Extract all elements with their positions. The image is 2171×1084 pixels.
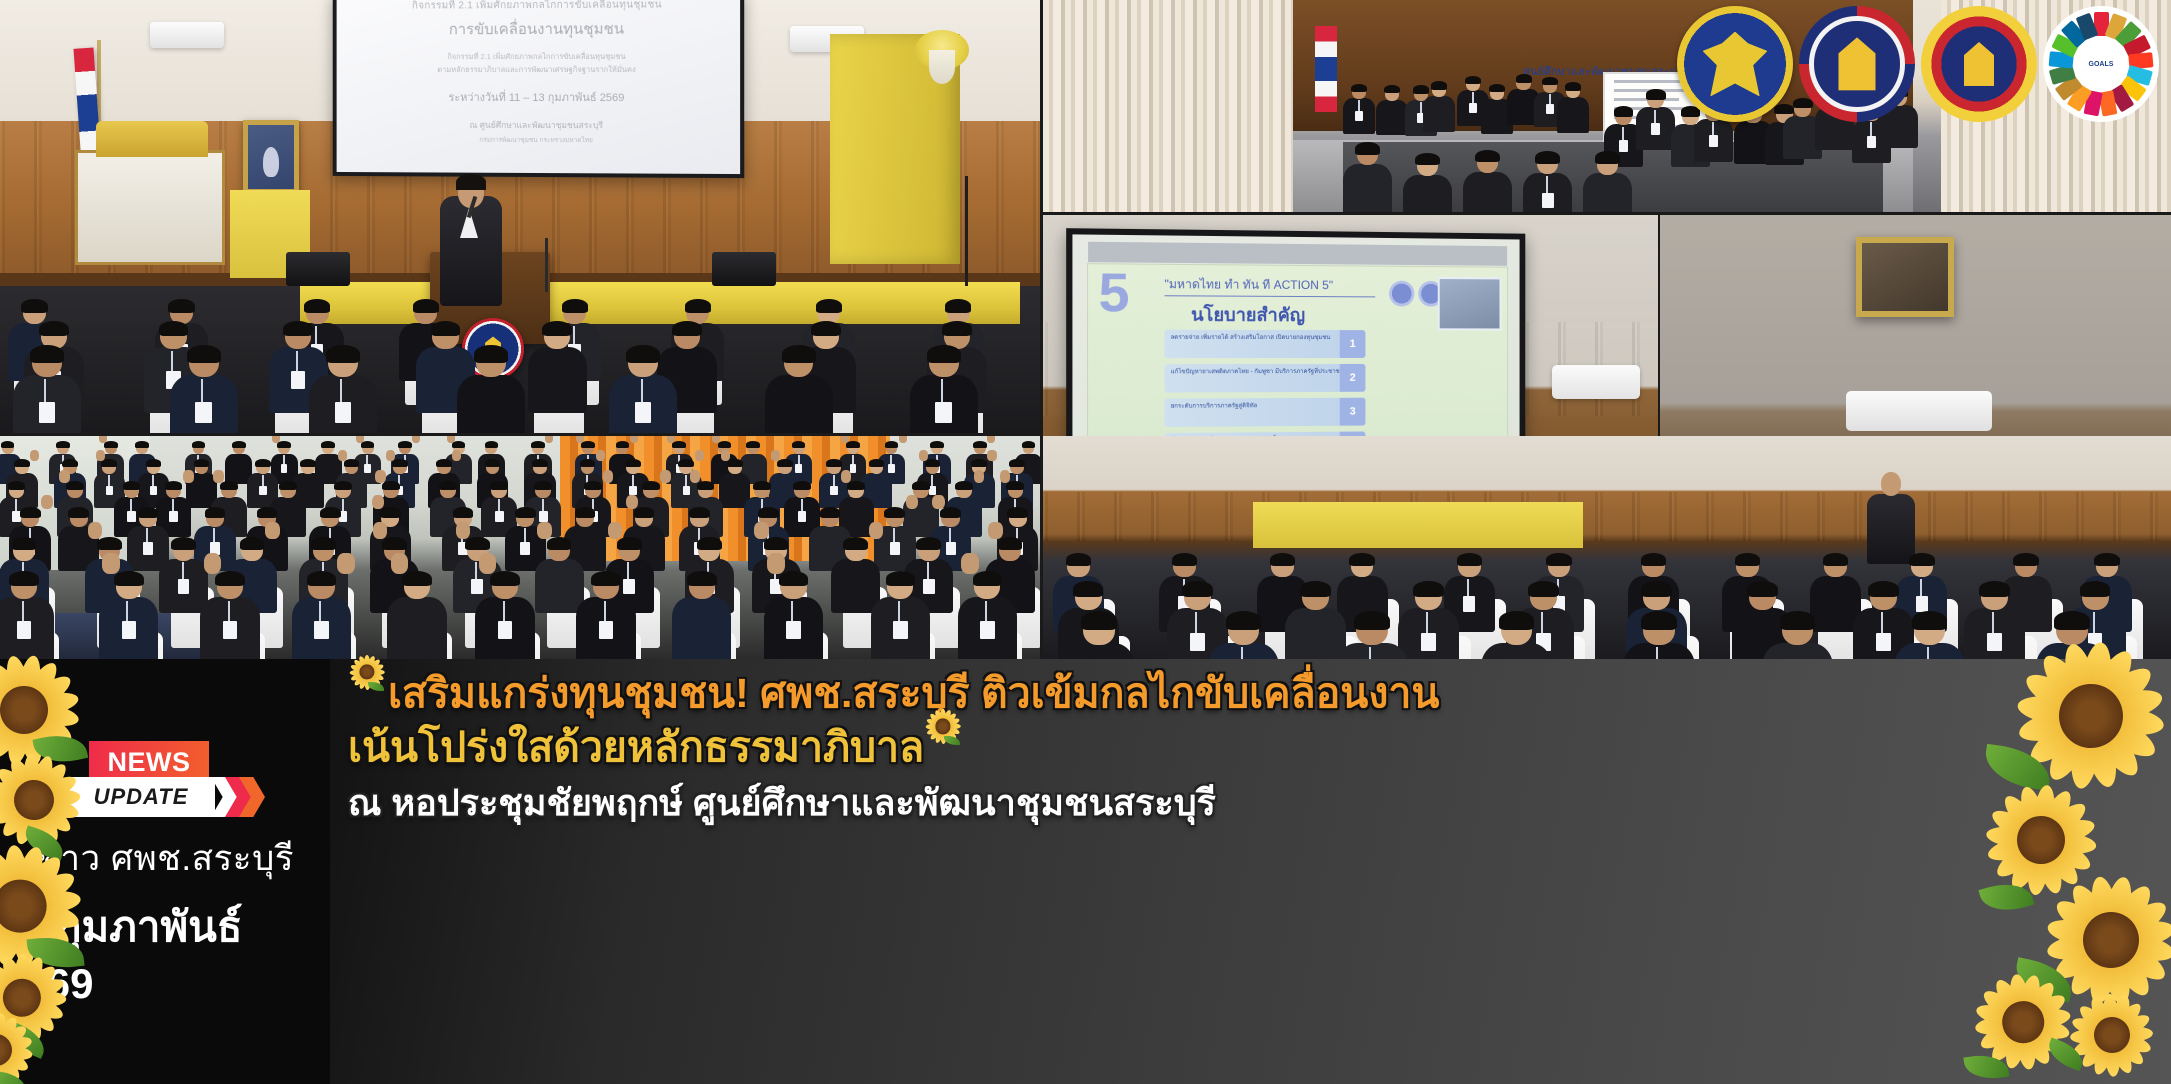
lanyard	[1420, 102, 1422, 113]
person-hair	[672, 441, 686, 448]
person-torso	[1343, 164, 1392, 212]
person-silhouette	[309, 346, 377, 433]
lanyard	[641, 379, 643, 402]
raised-fist	[375, 470, 386, 483]
person-hair	[955, 481, 973, 490]
person-hair	[135, 441, 149, 448]
name-badge	[635, 402, 651, 423]
lanyard	[1472, 92, 1474, 103]
person-hair	[321, 441, 335, 448]
raised-fist	[373, 522, 388, 539]
person-silhouette	[170, 346, 238, 433]
lanyard	[1358, 100, 1360, 111]
slide-seal-1	[1389, 281, 1414, 307]
person-hair	[1499, 611, 1535, 630]
lanyard	[182, 562, 184, 579]
person-hair	[534, 481, 552, 490]
person-torso	[1623, 643, 1694, 659]
person-silhouette	[576, 572, 636, 659]
person-hair	[1007, 507, 1028, 518]
raised-fist	[667, 436, 675, 443]
name-badge	[1651, 123, 1660, 135]
raised-fist	[386, 450, 395, 461]
person-hair	[792, 441, 806, 448]
person-hair	[9, 571, 39, 586]
person-hair	[436, 459, 452, 467]
person-silhouette	[292, 572, 352, 659]
person-hair	[490, 481, 508, 490]
person-hair	[616, 441, 630, 448]
person-hair	[581, 441, 595, 448]
raised-fist	[771, 450, 780, 461]
raised-fist	[919, 450, 928, 461]
raised-fist	[1000, 470, 1011, 483]
person-hair	[626, 345, 660, 363]
person-silhouette	[13, 346, 81, 433]
lanyard	[1992, 612, 1994, 633]
person-hair	[1415, 153, 1440, 166]
raised-fist	[988, 522, 1003, 539]
person-hair	[171, 537, 196, 550]
stage-monitor-right	[712, 252, 776, 286]
raised-fist	[337, 553, 355, 574]
person-hair	[1528, 581, 1559, 597]
lanyard	[152, 475, 154, 486]
lanyard	[108, 475, 110, 486]
person-hair	[826, 459, 842, 467]
person-hair	[1489, 84, 1505, 92]
person-hair	[764, 537, 789, 550]
person-hair	[382, 481, 400, 490]
main-hall-photo: กิจกรรมที่ 2.1 เพิ่มศักยภาพกลไกการขับเคล…	[0, 0, 1040, 433]
person-hair	[1073, 581, 1104, 597]
name-badge	[599, 621, 613, 639]
person-hair	[194, 459, 210, 467]
raised-fist	[265, 522, 280, 539]
person-hair	[532, 459, 548, 467]
person-hair	[811, 321, 841, 336]
person-hair	[779, 571, 809, 586]
lanyard	[1927, 647, 1929, 659]
slide-organization: กรมการพัฒนาชุมชน กระทรวงมหาดไทย	[479, 134, 593, 144]
person-hair	[1868, 581, 1899, 597]
name-badge	[1355, 111, 1363, 121]
headline-line-2: เน้นโปร่งใสด้วยหลักธรรมาภิบาล	[348, 723, 1991, 771]
person-hair	[1909, 553, 1935, 566]
raised-fist	[906, 495, 918, 510]
person-hair	[1542, 77, 1558, 85]
person-hair	[1912, 611, 1948, 630]
royal-portrait	[243, 120, 299, 194]
name-badge	[281, 464, 288, 472]
garuda-emblem-logo	[1677, 6, 1793, 122]
person-hair	[1226, 611, 1262, 630]
slide-quote: "มหาดไทย ทำ ทัน ที ACTION 5"	[1164, 275, 1333, 295]
meeting-room-photo: ศูนย์ศึกษาและพัฒนาชุมชนสระบุรี GOALS	[1043, 0, 2171, 212]
person-hair	[940, 507, 961, 518]
sunflower-decoration-left	[0, 640, 149, 1060]
raised-fist	[537, 522, 552, 539]
speaker-hair	[456, 174, 486, 190]
caption-right-block: เสริมแกร่งทุนชุมชน! ศพช.สระบุรี ติวเข้มก…	[348, 669, 1991, 824]
person-hair	[104, 441, 118, 448]
person-hair	[727, 459, 743, 467]
person-hair	[205, 507, 226, 518]
person-hair	[215, 571, 245, 586]
person-silhouette	[764, 572, 824, 659]
mic-stand	[545, 238, 548, 292]
person-hair	[816, 299, 842, 313]
person-hair	[97, 537, 122, 550]
thai-flag-meeting	[1315, 26, 1337, 112]
person-hair	[793, 481, 811, 490]
person-hair	[1006, 481, 1024, 490]
name-badge	[495, 511, 504, 522]
person-torso	[672, 597, 732, 659]
name-badge	[178, 579, 190, 594]
person-silhouette	[1636, 90, 1675, 150]
person-hair	[62, 459, 78, 467]
raised-fist	[626, 495, 638, 510]
lanyard	[791, 601, 793, 621]
person-hair	[232, 441, 246, 448]
person-hair	[1431, 81, 1447, 89]
person-hair	[1747, 581, 1778, 597]
person-hair	[847, 481, 865, 490]
person-hair	[531, 441, 545, 448]
person-torso	[1894, 643, 1965, 659]
person-hair	[1516, 74, 1532, 82]
person-hair	[1979, 581, 2010, 597]
raised-fist	[841, 470, 852, 483]
person-torso	[1762, 643, 1833, 659]
organization-logo-row: GOALS	[1677, 6, 2159, 122]
person-hair	[1300, 581, 1331, 597]
person-silhouette	[475, 572, 535, 659]
sunflower-icon	[348, 681, 388, 715]
name-badge	[786, 621, 800, 639]
person-hair	[515, 507, 536, 518]
lanyard	[852, 455, 854, 464]
name-badge	[1546, 104, 1554, 114]
lanyard	[893, 528, 895, 542]
name-badge	[1190, 633, 1205, 652]
person-hair	[820, 507, 841, 518]
raised-fist	[272, 436, 280, 443]
person-hair	[402, 571, 432, 586]
headline-line-2-text: เน้นโปร่งใสด้วยหลักธรรมาภิบาล	[348, 724, 924, 770]
lanyard	[1241, 647, 1243, 659]
name-badge	[893, 621, 907, 639]
lanyard	[1622, 127, 1624, 140]
lanyard	[340, 379, 342, 402]
person-hair	[240, 537, 265, 550]
person-hair	[925, 459, 941, 467]
raised-fist	[99, 436, 107, 443]
person-hair	[912, 481, 930, 490]
person-hair	[439, 481, 457, 490]
raised-fist	[695, 450, 704, 461]
lanyard	[1656, 647, 1658, 659]
person-hair	[886, 571, 916, 586]
slide-venue: ณ ศูนย์ศึกษาและพัฒนาชุมชนสระบุรี	[469, 117, 603, 131]
raised-fist	[213, 470, 224, 483]
lanyard	[44, 379, 46, 402]
person-silhouette	[1403, 154, 1452, 212]
person-hair	[884, 507, 905, 518]
lanyard	[1920, 579, 1922, 596]
raised-fist	[204, 553, 222, 574]
name-badge	[1542, 193, 1554, 208]
slide-thumbnail-photo	[1438, 277, 1502, 330]
person-hair	[101, 459, 117, 467]
person-hair	[187, 345, 221, 363]
person-hair	[2080, 581, 2111, 597]
slide-title-upper: กิจกรรมที่ 2.1 เพิ่มศักยภาพกลไกการขับเคล…	[412, 0, 662, 14]
person-hair	[307, 571, 337, 586]
person-hair	[580, 459, 596, 467]
person-hair	[1475, 150, 1500, 163]
raised-fist	[456, 522, 471, 539]
name-badge	[890, 542, 900, 555]
raised-fist	[961, 553, 979, 574]
person-hair	[685, 299, 711, 313]
raised-fist	[59, 470, 70, 483]
slide-policy-item: แก้ไขปัญหายาเสพติดภาคไทย - กัมพูชา มีบริ…	[1164, 364, 1365, 393]
person-hair	[575, 507, 596, 518]
person-silhouette	[457, 346, 525, 433]
lanyard	[228, 601, 230, 621]
lanyard	[801, 499, 803, 511]
slide-date: ระหว่างวันที่ 11 – 13 กุมภาพันธ์ 2569	[449, 87, 625, 105]
person-hair	[257, 507, 278, 518]
person-hair	[1384, 85, 1400, 93]
lanyard	[1654, 110, 1656, 123]
air-conditioner-right-wall	[1846, 391, 1992, 431]
person-silhouette	[528, 322, 588, 413]
person-hair	[304, 299, 330, 313]
sunflower-icon	[348, 653, 386, 691]
person-hair	[846, 441, 860, 448]
person-hair	[916, 537, 941, 550]
person-hair	[885, 441, 899, 448]
raised-fist	[754, 522, 769, 539]
person-silhouette	[1481, 612, 1552, 659]
person-hair	[1823, 553, 1849, 566]
person-torso	[1423, 96, 1455, 132]
drape-bow-ornament	[915, 30, 969, 70]
person-hair	[697, 537, 722, 550]
person-hair	[1535, 151, 1560, 164]
person-silhouette	[1336, 612, 1407, 659]
person-hair	[1413, 581, 1444, 597]
lanyard	[1549, 94, 1551, 105]
person-silhouette	[1557, 83, 1589, 132]
cldc-logo	[1921, 6, 2037, 122]
lanyard	[283, 455, 285, 464]
altar-table	[75, 150, 225, 265]
framed-royal-portrait	[1856, 237, 1954, 317]
lanyard	[172, 499, 174, 511]
raised-fist	[974, 470, 985, 483]
person-hair	[562, 299, 588, 313]
name-badge	[520, 542, 530, 555]
lanyard	[1546, 176, 1548, 193]
lanyard	[262, 475, 264, 486]
lanyard	[319, 601, 321, 621]
raised-fist	[372, 495, 384, 510]
person-hair	[1646, 89, 1666, 99]
person-hair	[591, 571, 621, 586]
raised-fist	[630, 436, 638, 443]
person-silhouette	[765, 346, 833, 433]
person-hair	[465, 537, 490, 550]
person-hair	[642, 481, 660, 490]
name-badge	[1421, 633, 1436, 652]
lanyard	[985, 601, 987, 621]
name-badge	[143, 542, 153, 555]
person-silhouette	[1376, 86, 1408, 135]
person-hair	[1735, 553, 1761, 566]
lanyard	[833, 475, 835, 486]
lanyard	[213, 528, 215, 542]
name-badge	[122, 621, 136, 639]
person-torso	[1063, 643, 1134, 659]
back-speaker-head	[1881, 472, 1901, 496]
back-yellow-drape	[1253, 502, 1583, 548]
person-silhouette	[910, 346, 978, 433]
slide-policy-text: แก้ไขปัญหายาเสพติดภาคไทย - กัมพูชา มีบริ…	[1171, 369, 1344, 375]
headline-line-1: เสริมแกร่งทุนชุมชน! ศพช.สระบุรี ติวเข้มก…	[348, 669, 1991, 717]
news-collage-graphic: กิจกรรมที่ 2.1 เพิ่มศักยภาพกลไกการขับเคล…	[0, 0, 2171, 1084]
venue-line: ณ หอประชุมชัยพฤกษ์ ศูนย์ศึกษาและพัฒนาชุม…	[348, 782, 1991, 824]
raised-fist	[721, 450, 730, 461]
raised-fist	[608, 522, 623, 539]
person-hair	[1595, 151, 1620, 164]
audience-group-photo	[0, 436, 1040, 659]
person-hair	[1270, 553, 1296, 566]
person-silhouette	[1523, 152, 1572, 212]
raised-fist	[932, 495, 944, 510]
person-silhouette	[200, 572, 260, 659]
name-badge	[106, 486, 114, 496]
person-hair	[283, 321, 313, 336]
raised-fist	[596, 450, 605, 461]
raised-fist	[576, 436, 584, 443]
person-hair	[485, 441, 499, 448]
projector-screen: กิจกรรมที่ 2.1 เพิ่มศักยภาพกลไกการขับเคล…	[333, 0, 744, 178]
lanyard	[898, 601, 900, 621]
person-silhouette	[1423, 82, 1455, 131]
person-hair	[678, 459, 694, 467]
person-hair	[1, 441, 15, 448]
lanyard	[296, 351, 298, 371]
person-hair	[485, 459, 501, 467]
lanyard	[1870, 122, 1872, 135]
person-hair	[843, 537, 868, 550]
slide-divider-rule	[1164, 295, 1375, 297]
person-silhouette	[387, 572, 447, 659]
slide-title: การขับเคลื่อนงานทุนชุมชน	[449, 17, 624, 42]
air-conditioner-slide-room	[1552, 365, 1640, 399]
person-torso	[457, 375, 525, 433]
person-hair	[1172, 553, 1198, 566]
person-hair	[617, 537, 642, 550]
slide-policy-number: 1	[1340, 330, 1366, 358]
person-hair	[68, 507, 89, 518]
person-hair	[1009, 459, 1025, 467]
raised-fist	[987, 450, 996, 461]
lanyard	[126, 601, 128, 621]
lanyard	[201, 379, 203, 402]
person-hair	[1780, 611, 1816, 630]
person-hair	[168, 299, 194, 313]
person-hair	[431, 321, 461, 336]
raised-fist	[690, 470, 701, 483]
raised-fist	[412, 436, 420, 443]
person-hair	[625, 459, 641, 467]
person-hair	[758, 507, 779, 518]
person-hair	[930, 441, 944, 448]
person-hair	[718, 441, 732, 448]
person-hair	[973, 571, 1003, 586]
person-hair	[1614, 106, 1634, 116]
person-hair	[1565, 82, 1581, 90]
person-hair	[279, 481, 297, 490]
person-hair	[1457, 553, 1483, 566]
raised-fist	[356, 436, 364, 443]
person-hair	[334, 481, 352, 490]
name-badge	[314, 621, 328, 639]
raised-fist	[447, 436, 455, 443]
person-hair	[277, 441, 291, 448]
person-hair	[2094, 553, 2120, 566]
name-badge	[259, 486, 267, 496]
slide-policy-item: ลดรายจ่าย เพิ่มรายได้ สร้างเสริมโอกาส เป…	[1164, 330, 1365, 358]
person-hair	[21, 299, 47, 313]
person-hair	[453, 507, 474, 518]
person-torso	[765, 375, 833, 433]
person-hair	[782, 345, 816, 363]
name-badge	[1876, 633, 1891, 652]
slide-big-number: 5	[1098, 270, 1129, 317]
person-hair	[973, 441, 987, 448]
person-hair	[326, 345, 360, 363]
raised-fist	[96, 450, 105, 461]
lanyard	[503, 601, 505, 621]
slide-policy-item: ยกระดับการบริการภาครัฐสู่ดิจิทัล 3	[1164, 398, 1365, 427]
person-hair	[945, 299, 971, 313]
person-hair	[1351, 84, 1367, 92]
name-badge	[1619, 140, 1628, 152]
name-badge	[291, 371, 305, 389]
person-hair	[2054, 611, 2090, 630]
person-silhouette	[672, 572, 732, 659]
raised-fist	[102, 553, 120, 574]
person-hair	[746, 441, 760, 448]
slide-policy-number: 2	[1340, 364, 1366, 392]
raised-fist	[41, 495, 53, 510]
person-hair	[114, 571, 144, 586]
name-badge	[223, 621, 237, 639]
person-hair	[66, 481, 84, 490]
lanyard	[1369, 647, 1371, 659]
lanyard	[1881, 612, 1883, 633]
person-silhouette	[609, 346, 677, 433]
name-badge	[39, 402, 55, 423]
lanyard	[604, 601, 606, 621]
person-torso	[1403, 175, 1452, 212]
